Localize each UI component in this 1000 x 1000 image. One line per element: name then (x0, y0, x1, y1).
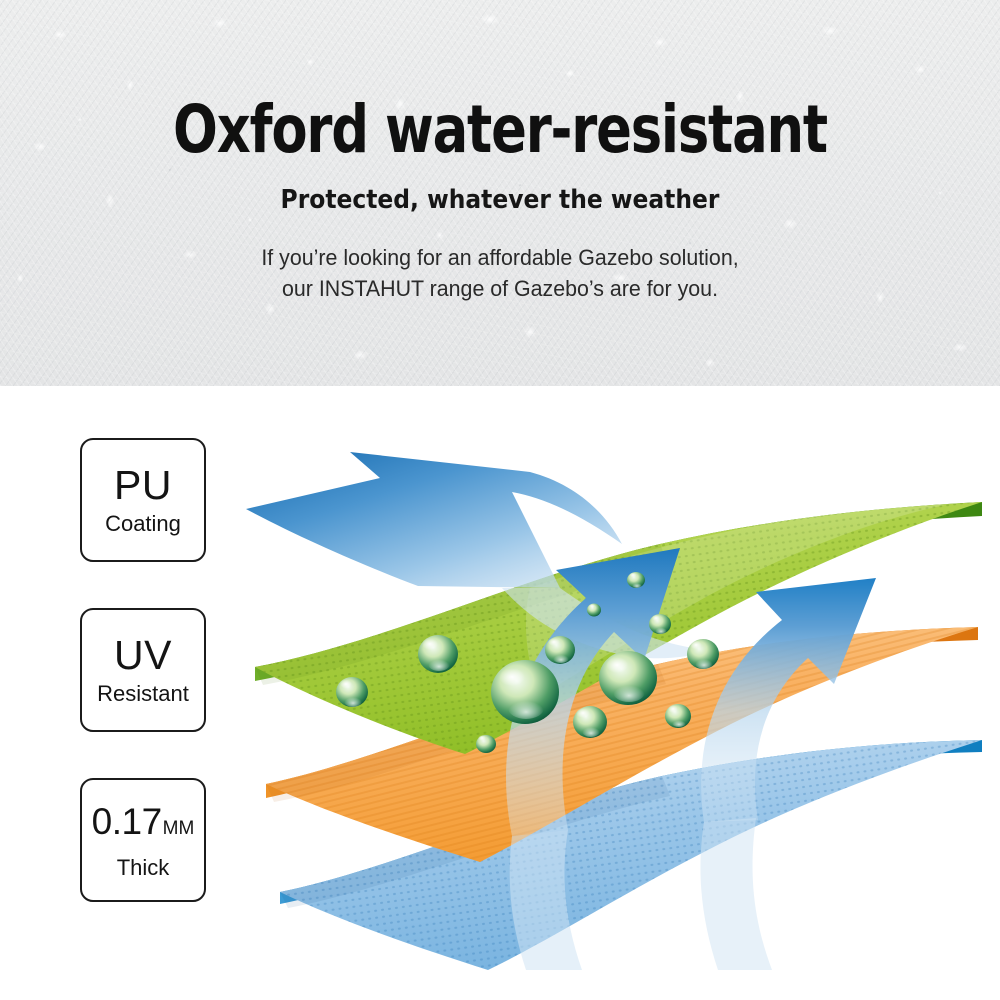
water-droplet (599, 651, 657, 705)
hero-description-line-1: If you’re looking for an affordable Gaze… (25, 242, 975, 273)
hero-subtitle: Protected, whatever the weather (50, 166, 950, 216)
page-title: Oxford water-resistant (100, 0, 900, 166)
badge-uv-resistant-main: UV (114, 633, 172, 677)
badge-thickness-unit: MM (163, 807, 195, 851)
breathability-arrow-right-tail (700, 818, 772, 970)
water-droplet (627, 572, 645, 588)
deflected-water-arrow (246, 452, 622, 588)
badge-thickness-value: 0.17MM (92, 800, 195, 851)
water-droplet (491, 660, 559, 724)
layered-fabric-diagram (230, 392, 1000, 972)
badge-thickness-label: Thick (117, 855, 170, 881)
badge-uv-resistant-label: Resistant (97, 681, 189, 707)
hero-description-line-2: our INSTAHUT range of Gazebo’s are for y… (25, 273, 975, 304)
water-droplet (545, 636, 575, 664)
water-droplet (418, 635, 458, 673)
badge-pu-coating-label: Coating (105, 511, 181, 537)
hero-description: If you’re looking for an affordable Gaze… (25, 216, 975, 304)
hero-text-block: Oxford water-resistant Protected, whatev… (0, 0, 1000, 304)
badge-pu-coating: PU Coating (80, 438, 206, 562)
water-droplet (587, 604, 601, 617)
water-droplet (665, 704, 691, 728)
badge-thickness: 0.17MM Thick (80, 778, 206, 902)
water-droplet (476, 735, 496, 753)
badge-uv-resistant: UV Resistant (80, 608, 206, 732)
badge-thickness-main: 0.17 (92, 800, 162, 844)
product-feature-infographic: Oxford water-resistant Protected, whatev… (0, 0, 1000, 1000)
water-droplet (687, 639, 719, 669)
badge-uv-resistant-value: UV (114, 633, 172, 677)
badge-pu-coating-main: PU (114, 463, 172, 507)
hero-banner: Oxford water-resistant Protected, whatev… (0, 0, 1000, 386)
water-droplet (649, 614, 671, 634)
water-droplet (336, 677, 368, 707)
badge-pu-coating-value: PU (114, 463, 172, 507)
water-droplet (573, 706, 607, 738)
